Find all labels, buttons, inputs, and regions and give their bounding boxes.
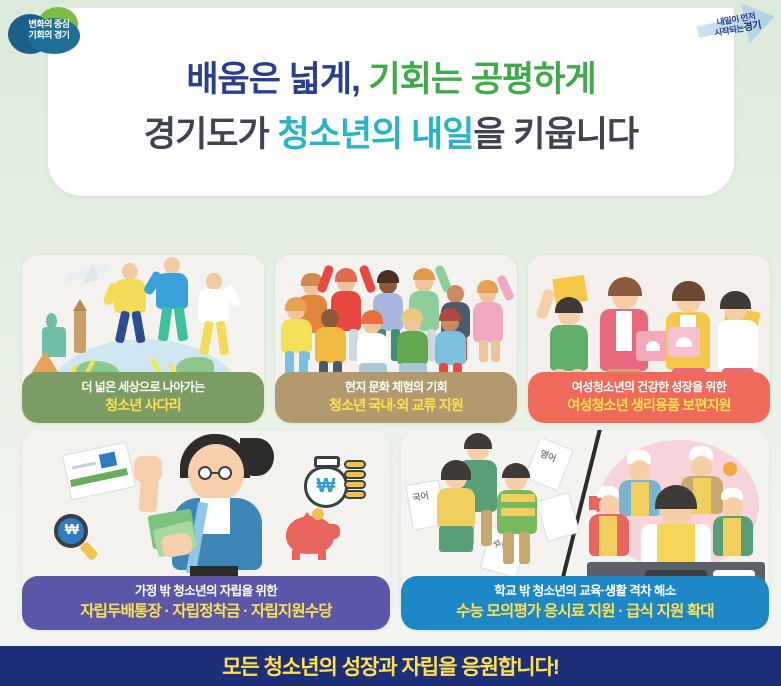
card-1-subtitle: 더 넓은 세상으로 나아가는: [28, 380, 258, 395]
glasses-left-icon: [198, 466, 212, 480]
big-ben-icon: [74, 307, 86, 353]
card-exchange-support[interactable]: 현지 문화 체험의 기회 청소년 국내·외 교류 지원: [275, 255, 517, 423]
arrow-badge-text: 내일이 먼저 시작되는경기: [698, 8, 776, 42]
card-5-subtitle: 학교 밖 청소년의 교육·생활 격차 해소: [407, 584, 763, 600]
headline-line1-part1: 배움은 넓게,: [186, 60, 359, 99]
headline-line2-part2: 청소년의 내일: [277, 115, 473, 154]
card-4-subtitle: 가정 밖 청소년의 자립을 위한: [28, 584, 384, 600]
card-4-title: 자립두배통장 · 자립정착금 · 자립지원수당: [28, 602, 384, 621]
hero-panel: 배움은 넓게, 기회는 공평하게 경기도가 청소년의 내일을 키웁니다: [48, 8, 734, 196]
coin-stack-icon: [344, 460, 366, 469]
coin-icon: [312, 508, 324, 520]
footer-bar: 모든 청소년의 성장과 자립을 응원합니다!: [0, 646, 781, 686]
cards-row-bottom: ₩ ₩: [22, 430, 770, 630]
footer-slogan: 모든 청소년의 성장과 자립을 응원합니다!: [222, 651, 559, 681]
headline-line-1: 배움은 넓게, 기회는 공평하게: [48, 60, 734, 100]
card-4-caption: 가정 밖 청소년의 자립을 위한 자립두배통장 · 자립정착금 · 자립지원수당: [22, 576, 390, 630]
headline-line2-part1: 경기도가: [144, 115, 269, 154]
card-2-subtitle: 현지 문화 체험의 기회: [281, 380, 511, 395]
won-symbol-bag: ₩: [312, 474, 340, 498]
glasses-right-icon: [218, 466, 232, 480]
card-1-title: 청소년 사다리: [28, 397, 258, 415]
card-5-caption: 학교 밖 청소년의 교육·생활 격차 해소 수능 모의평가 응시료 지원 · 급…: [401, 576, 769, 630]
headline-line2-part3: 을 키웁니다: [473, 115, 638, 154]
logo-line-2: 기회의 경기: [12, 30, 86, 41]
headline-line-2: 경기도가 청소년의 내일을 키웁니다: [48, 115, 734, 155]
card-3-subtitle: 여성청소년의 건강한 성장을 위한: [534, 380, 764, 395]
card-2-title: 청소년 국내·외 교류 지원: [281, 397, 511, 415]
raised-fist-icon: [134, 456, 162, 482]
headline-line1-part2: 기회는 공평하게: [369, 60, 596, 99]
won-symbol-magnifier: ₩: [62, 520, 82, 540]
card-2-caption: 현지 문화 체험의 기회 청소년 국내·외 교류 지원: [275, 372, 517, 424]
logo-line-1: 변화의 중심: [12, 19, 86, 30]
gyeonggi-logo: 변화의 중심 기회의 경기: [4, 6, 90, 54]
card-5-title: 수능 모의평가 응시료 지원 · 급식 지원 확대: [407, 602, 763, 621]
card-out-of-school-support[interactable]: 국어 수학 영어: [401, 430, 769, 630]
card-3-title: 여성청소년 생리용품 보편지원: [534, 397, 764, 415]
orange-icon: [723, 462, 737, 476]
card-youth-ladder[interactable]: 더 넓은 세상으로 나아가는 청소년 사다리: [22, 255, 264, 423]
card-independence-support[interactable]: ₩ ₩: [22, 430, 390, 630]
slogan-arrow-badge: 내일이 먼저 시작되는경기: [697, 0, 779, 52]
card-3-caption: 여성청소년의 건강한 성장을 위한 여성청소년 생리용품 보편지원: [528, 372, 770, 424]
card-1-caption: 더 넓은 세상으로 나아가는 청소년 사다리: [22, 372, 264, 424]
logo-text: 변화의 중심 기회의 경기: [12, 19, 86, 41]
card-sanitary-products[interactable]: 여성청소년의 건강한 성장을 위한 여성청소년 생리용품 보편지원: [528, 255, 770, 423]
poster-root: 배움은 넓게, 기회는 공평하게 경기도가 청소년의 내일을 키웁니다 변화의 …: [0, 0, 781, 686]
cards-row-top: 더 넓은 세상으로 나아가는 청소년 사다리: [22, 255, 770, 423]
